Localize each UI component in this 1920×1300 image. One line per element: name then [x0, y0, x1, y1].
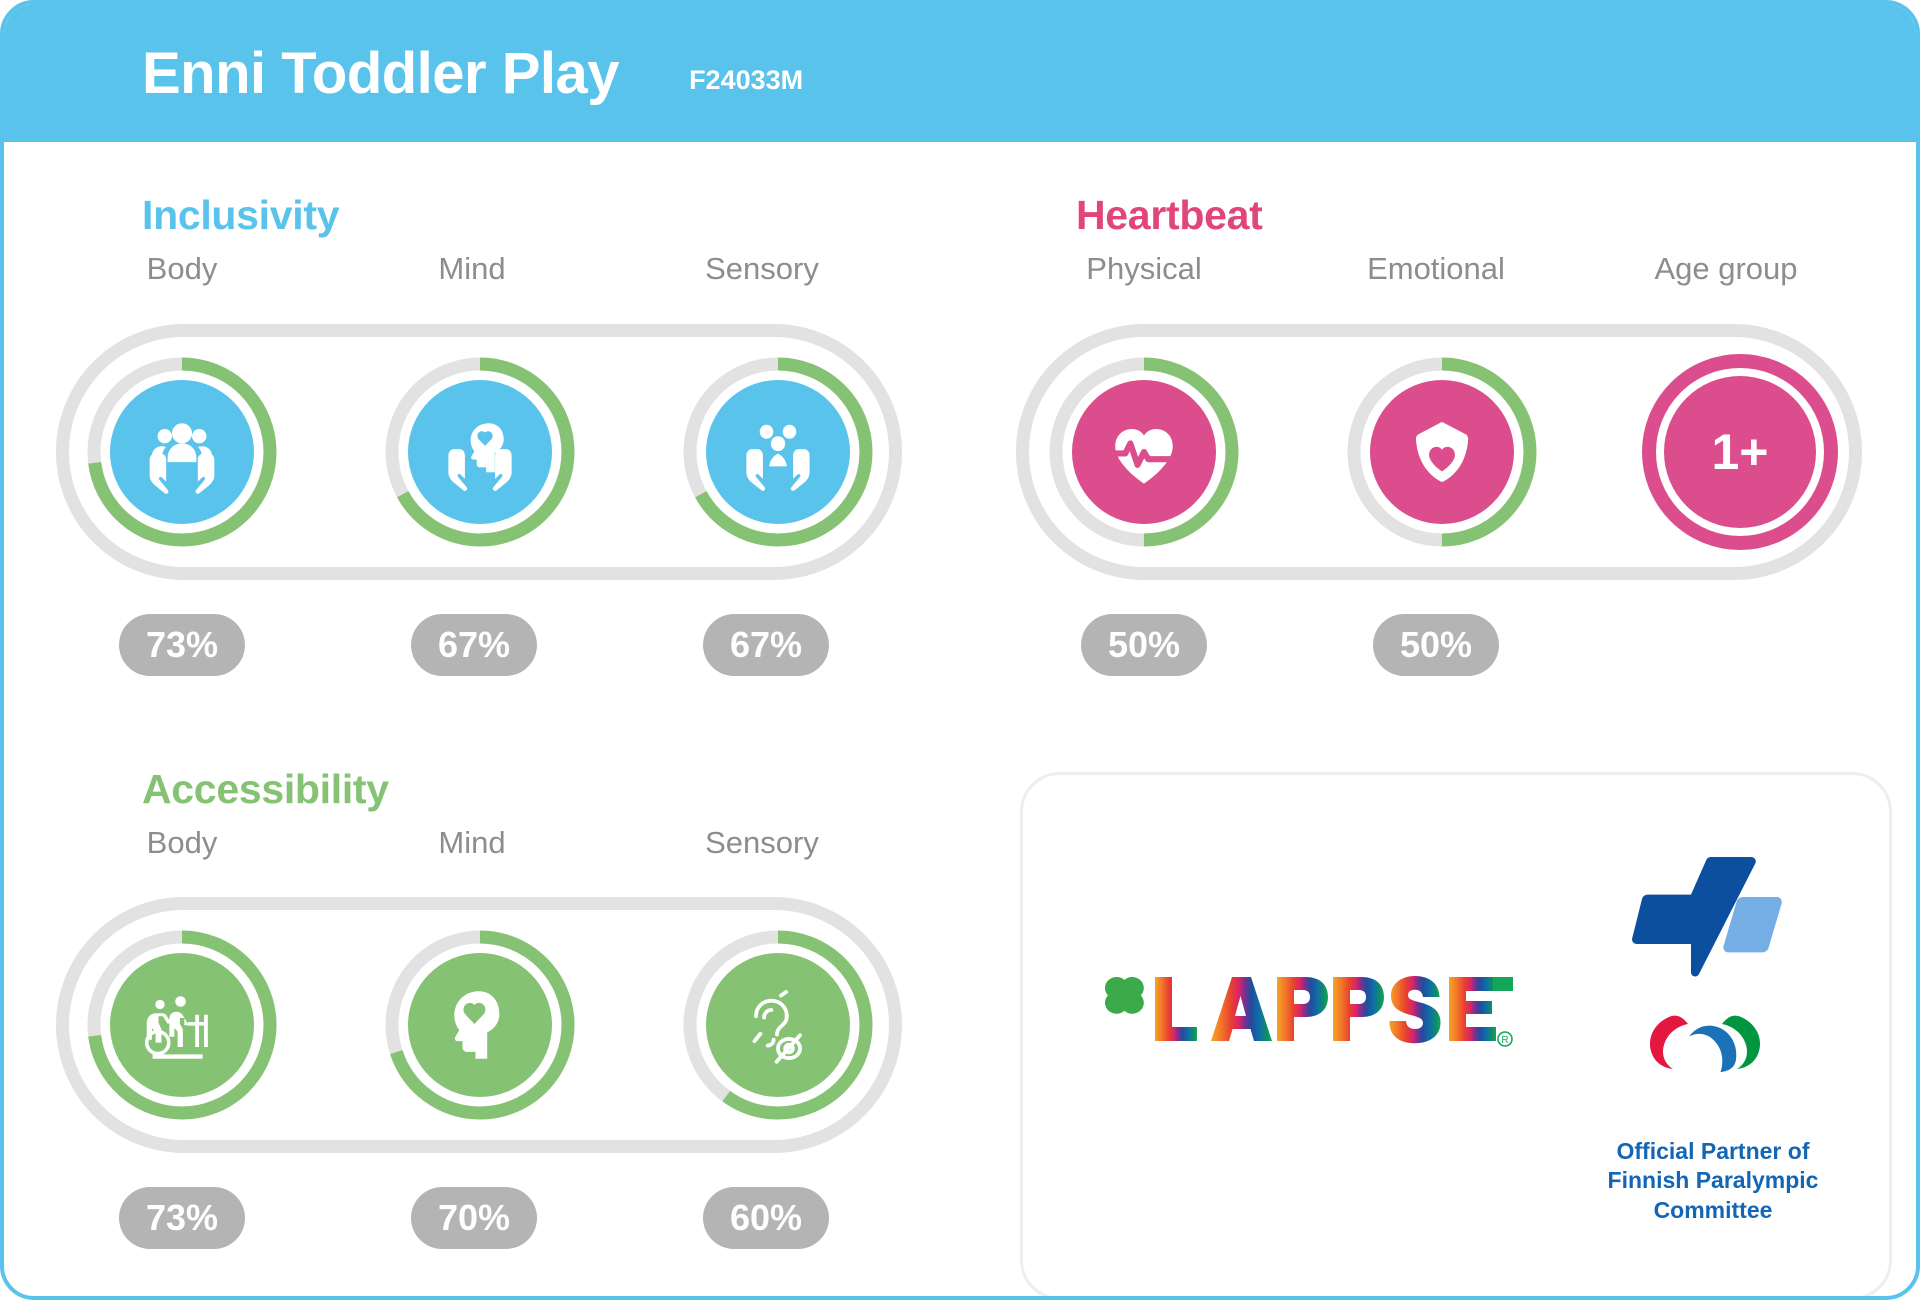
- finnish-flag-mark-icon: [1632, 857, 1782, 976]
- ring-heartbeat-physical[interactable]: [1046, 354, 1242, 550]
- partner-caption-line3: Committee: [1563, 1196, 1863, 1225]
- age-group-badge[interactable]: 1+: [1642, 354, 1838, 550]
- icon-shield-heart: [1370, 380, 1514, 524]
- label-inclusivity-mind: Mind: [438, 251, 505, 287]
- lappset-logo: R: [1093, 963, 1513, 1059]
- ring-accessibility-body[interactable]: [84, 927, 280, 1123]
- product-code: F24033M: [689, 65, 803, 96]
- ring-inclusivity-mind[interactable]: [382, 354, 578, 550]
- label-heartbeat-age-group: Age group: [1654, 251, 1797, 287]
- heartbeat-column-labels: Physical Emotional Age group: [1076, 251, 1856, 295]
- icon-hands-holding-people: [110, 380, 254, 524]
- inclusivity-column-labels: Body Mind Sensory: [142, 251, 902, 295]
- ring-inclusivity-body[interactable]: [84, 354, 280, 550]
- ring-accessibility-sensory[interactable]: [680, 927, 876, 1123]
- pill-accessibility-body: 73%: [119, 1187, 245, 1249]
- label-accessibility-body: Body: [147, 825, 218, 861]
- section-title-heartbeat: Heartbeat: [1076, 192, 1856, 239]
- pill-inclusivity-sensory: 67%: [703, 614, 829, 676]
- partner-caption-line1: Official Partner of: [1563, 1137, 1863, 1166]
- partner-caption: Official Partner of Finnish Paralympic C…: [1563, 1137, 1863, 1225]
- label-heartbeat-physical: Physical: [1086, 251, 1201, 287]
- section-inclusivity: Inclusivity Body Mind Sensory: [142, 192, 902, 295]
- section-title-inclusivity: Inclusivity: [142, 192, 902, 239]
- label-inclusivity-sensory: Sensory: [705, 251, 819, 287]
- icon-hands-holding-head-heart: [408, 380, 552, 524]
- label-accessibility-sensory: Sensory: [705, 825, 819, 861]
- label-accessibility-mind: Mind: [438, 825, 505, 861]
- partner-panel: R Official Partner of Finni: [1020, 772, 1892, 1300]
- partner-caption-line2: Finnish Paralympic: [1563, 1166, 1863, 1195]
- label-inclusivity-body: Body: [147, 251, 218, 287]
- section-heartbeat: Heartbeat Physical Emotional Age group: [1076, 192, 1856, 295]
- icon-heart-pulse: [1072, 380, 1216, 524]
- registered-mark-icon: R: [1498, 1032, 1512, 1046]
- lappset-clover-icon: [1105, 977, 1144, 1014]
- section-title-accessibility: Accessibility: [142, 766, 902, 813]
- pill-heartbeat-emotional: 50%: [1373, 614, 1499, 676]
- pill-inclusivity-body: 73%: [119, 614, 245, 676]
- header-bar: Enni Toddler Play F24033M: [4, 4, 1920, 142]
- icon-head-heart: [408, 953, 552, 1097]
- finnish-paralympic-committee-logo: [1593, 835, 1833, 1135]
- product-info-card: Enni Toddler Play F24033M Inclusivity Bo…: [0, 0, 1920, 1300]
- paralympic-agitos-icon: [1650, 1016, 1760, 1077]
- accessibility-column-labels: Body Mind Sensory: [142, 825, 902, 869]
- label-heartbeat-emotional: Emotional: [1367, 251, 1505, 287]
- pill-accessibility-sensory: 60%: [703, 1187, 829, 1249]
- icon-ear-eye-disabled: [706, 953, 850, 1097]
- ring-accessibility-mind[interactable]: [382, 927, 578, 1123]
- icon-wheelchair-walker: [110, 953, 254, 1097]
- age-group-value: 1+: [1664, 376, 1816, 528]
- page-title: Enni Toddler Play: [142, 40, 619, 107]
- pill-inclusivity-mind: 67%: [411, 614, 537, 676]
- icon-hands-holding-senses: [706, 380, 850, 524]
- ring-inclusivity-sensory[interactable]: [680, 354, 876, 550]
- ring-heartbeat-emotional[interactable]: [1344, 354, 1540, 550]
- pill-heartbeat-physical: 50%: [1081, 614, 1207, 676]
- pill-accessibility-mind: 70%: [411, 1187, 537, 1249]
- section-accessibility: Accessibility Body Mind Sensory: [142, 766, 902, 869]
- svg-text:R: R: [1501, 1035, 1508, 1046]
